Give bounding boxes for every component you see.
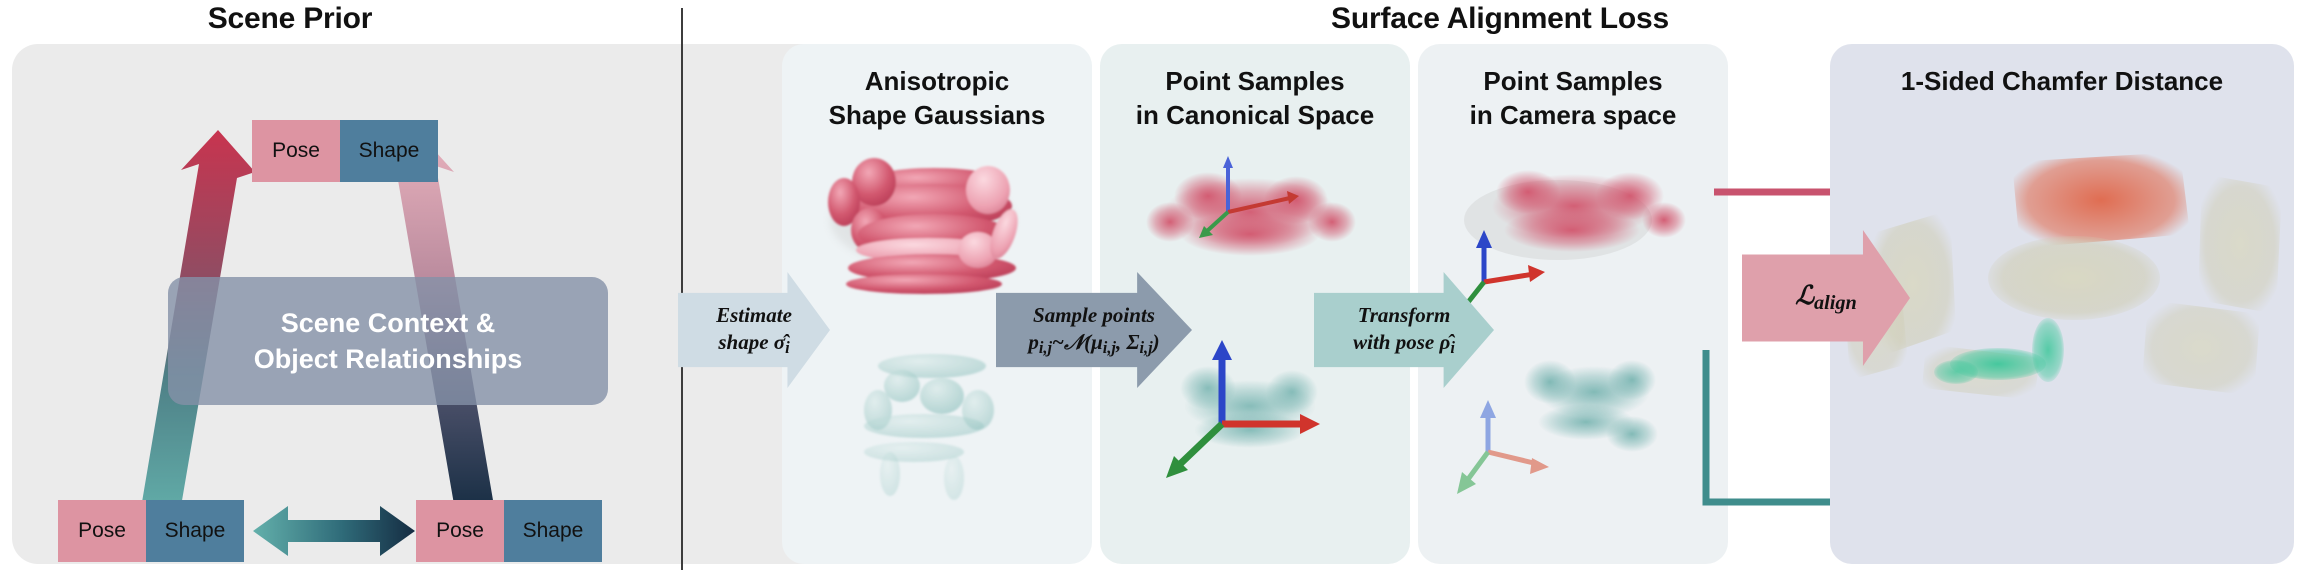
scene-context-line-1: Scene Context & (281, 305, 496, 341)
step-3-line-1: Transform (1358, 302, 1451, 329)
chamfer-scene-pointcloud (1830, 114, 2294, 564)
panel-4-title: 1-Sided Chamfer Distance (1830, 64, 2294, 98)
panel-3-title-line-1: Point Samples (1418, 64, 1728, 98)
panel-divider (681, 8, 683, 570)
step-2-line-1: Sample points (1033, 302, 1155, 329)
node-top-shape-box: Shape (340, 120, 438, 182)
node-bottom-left-pose-box: Pose (58, 500, 146, 562)
node-bottom-right-shape-box: Shape (504, 500, 602, 562)
step-2-line-2: pi,j~𝒩(μi,j, Σi,j) (1028, 329, 1159, 358)
panel-1-title: Anisotropic Shape Gaussians (782, 64, 1092, 133)
scene-context-line-2: Object Relationships (254, 341, 523, 377)
left-panel-title: Scene Prior (0, 2, 580, 36)
panel-3-title-line-2: in Camera space (1418, 98, 1728, 132)
panel-2-title-line-1: Point Samples (1100, 64, 1410, 98)
node-bottom-right-pose-box: Pose (416, 500, 504, 562)
step-3-line-2: with pose ρ̂i (1353, 329, 1455, 358)
node-bottom-left-shape-box: Shape (146, 500, 244, 562)
panel-4-title-line-1: 1-Sided Chamfer Distance (1830, 64, 2294, 98)
figure-root: Scene Prior (0, 0, 2306, 584)
right-panel-title: Surface Alignment Loss (700, 2, 2300, 36)
scene-context-box: Scene Context & Object Relationships (168, 277, 608, 405)
panel-2-title: Point Samples in Canonical Space (1100, 64, 1410, 133)
panel-2-title-line-2: in Canonical Space (1100, 98, 1410, 132)
arrow-bottom-bidirectional (253, 506, 415, 556)
panel-1-title-line-1: Anisotropic (782, 64, 1092, 98)
node-top-pose-box: Pose (252, 120, 340, 182)
panel-3-title: Point Samples in Camera space (1418, 64, 1728, 133)
step-1-line-2: shape σ̂i (718, 329, 789, 358)
step-1-line-1: Estimate (716, 302, 792, 329)
step-4-label: ℒalign (1795, 279, 1857, 316)
panel-1-title-line-2: Shape Gaussians (782, 98, 1092, 132)
